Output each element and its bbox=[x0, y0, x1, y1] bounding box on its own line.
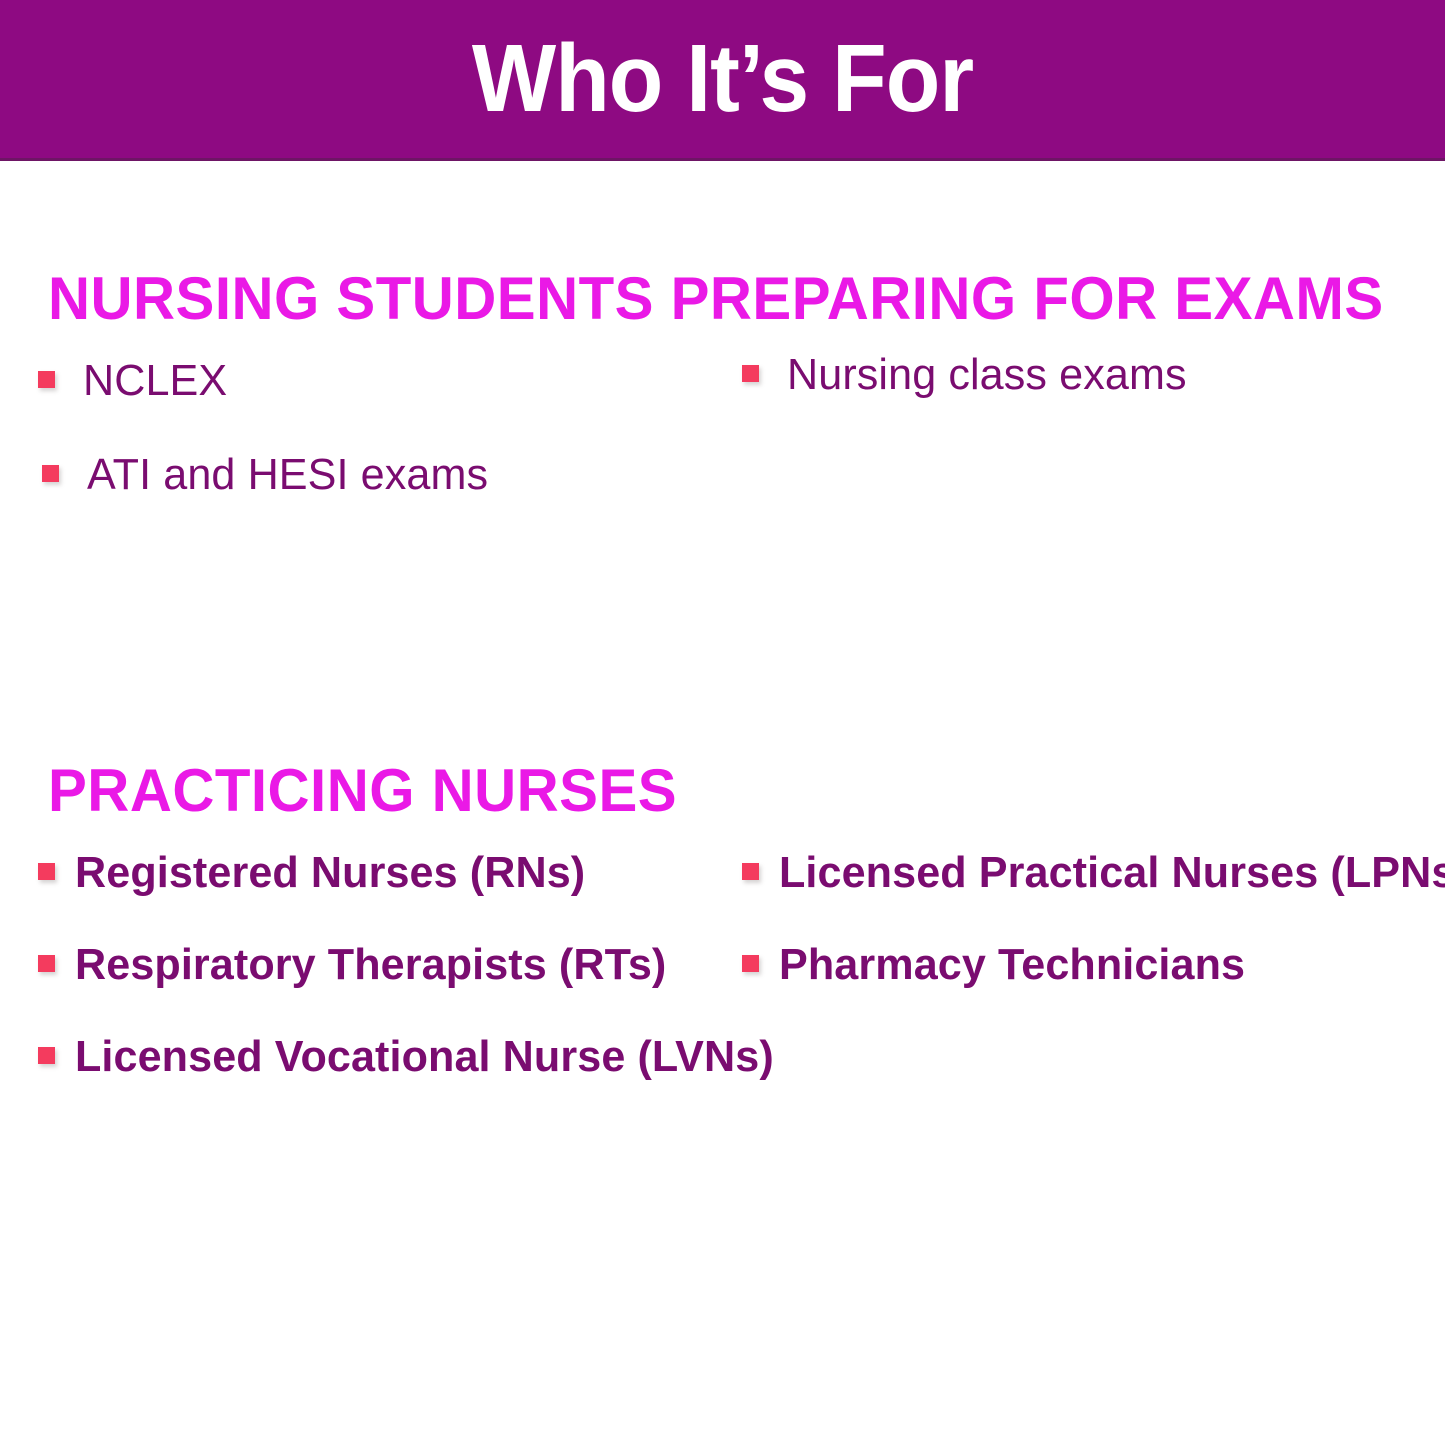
slide-title: Who It’s For bbox=[472, 31, 973, 127]
list-item-label: NCLEX bbox=[83, 355, 227, 407]
list-item-label: Licensed Vocational Nurse (LVNs) bbox=[75, 1031, 774, 1083]
square-bullet-icon bbox=[38, 955, 55, 972]
list-item-label: Respiratory Therapists (RTs) bbox=[75, 939, 666, 991]
slide-content: NURSING STUDENTS PREPARING FOR EXAMS NCL… bbox=[0, 161, 1445, 1445]
list-item: Licensed Practical Nurses (LPNs) bbox=[742, 847, 1445, 899]
slide-header-bar: Who It’s For bbox=[0, 0, 1445, 161]
list-item: Nursing class exams bbox=[742, 349, 1195, 401]
list-item: Respiratory Therapists (RTs) bbox=[38, 939, 678, 991]
section-heading-practicing-nurses: PRACTICING NURSES bbox=[48, 761, 677, 821]
list-item-label: Nursing class exams bbox=[787, 349, 1187, 401]
square-bullet-icon bbox=[38, 371, 55, 388]
list-item: NCLEX bbox=[38, 355, 230, 407]
list-item-label: ATI and HESI exams bbox=[87, 449, 488, 501]
list-item-label: Registered Nurses (RNs) bbox=[75, 847, 585, 899]
list-item: Pharmacy Technicians bbox=[742, 939, 1255, 991]
list-item: ATI and HESI exams bbox=[42, 449, 496, 501]
list-item: Registered Nurses (RNs) bbox=[38, 847, 596, 899]
square-bullet-icon bbox=[742, 955, 759, 972]
list-item-label: Pharmacy Technicians bbox=[779, 939, 1245, 991]
square-bullet-icon bbox=[38, 863, 55, 880]
square-bullet-icon bbox=[38, 1047, 55, 1064]
square-bullet-icon bbox=[42, 465, 59, 482]
list-item-label: Licensed Practical Nurses (LPNs) bbox=[779, 847, 1445, 899]
section-heading-nursing-students: NURSING STUDENTS PREPARING FOR EXAMS bbox=[48, 269, 1384, 329]
list-item: Licensed Vocational Nurse (LVNs) bbox=[38, 1031, 788, 1083]
square-bullet-icon bbox=[742, 863, 759, 880]
slide-who-its-for: Who It’s For NURSING STUDENTS PREPARING … bbox=[0, 0, 1445, 1445]
square-bullet-icon bbox=[742, 365, 759, 382]
